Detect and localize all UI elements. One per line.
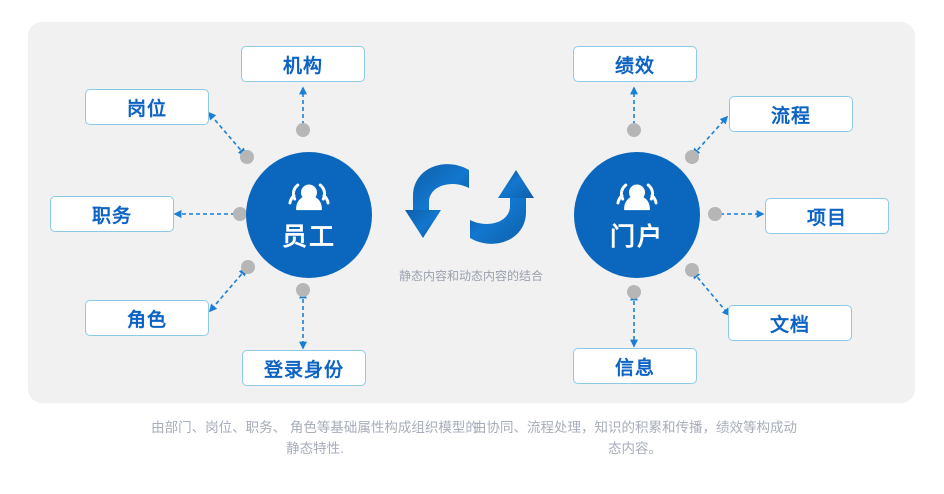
diagram-canvas: 员工 门户 静态内容和动态内容的结合 机构 岗位 职务 角色 登录身份 绩效 流…	[0, 0, 944, 494]
center-caption: 静态内容和动态内容的结合	[380, 268, 562, 285]
hub-portal[interactable]: 门户	[574, 152, 700, 278]
chip-login[interactable]: 登录身份	[242, 350, 366, 386]
chip-org[interactable]: 机构	[241, 46, 365, 82]
circular-arrows-icon	[397, 152, 542, 257]
people-icon	[286, 182, 332, 222]
chip-process[interactable]: 流程	[729, 96, 853, 132]
chip-perf[interactable]: 绩效	[573, 46, 697, 82]
chip-project[interactable]: 项目	[765, 198, 889, 234]
chip-role[interactable]: 角色	[85, 300, 209, 336]
chip-post[interactable]: 岗位	[85, 89, 209, 125]
chip-info[interactable]: 信息	[573, 348, 697, 384]
hub-portal-label: 门户	[610, 225, 664, 250]
chip-duty[interactable]: 职务	[50, 196, 174, 232]
hub-employee[interactable]: 员工	[246, 152, 372, 278]
footnote-right: 由协同、流程处理，知识的积累和传播，绩效等构成动态内容。	[470, 418, 800, 460]
people-icon	[614, 182, 660, 222]
footnote-left: 由部门、岗位、职务、 角色等基础属性构成组织模型的静态特性.	[150, 418, 480, 460]
hub-employee-label: 员工	[282, 225, 336, 250]
chip-document[interactable]: 文档	[728, 305, 852, 341]
